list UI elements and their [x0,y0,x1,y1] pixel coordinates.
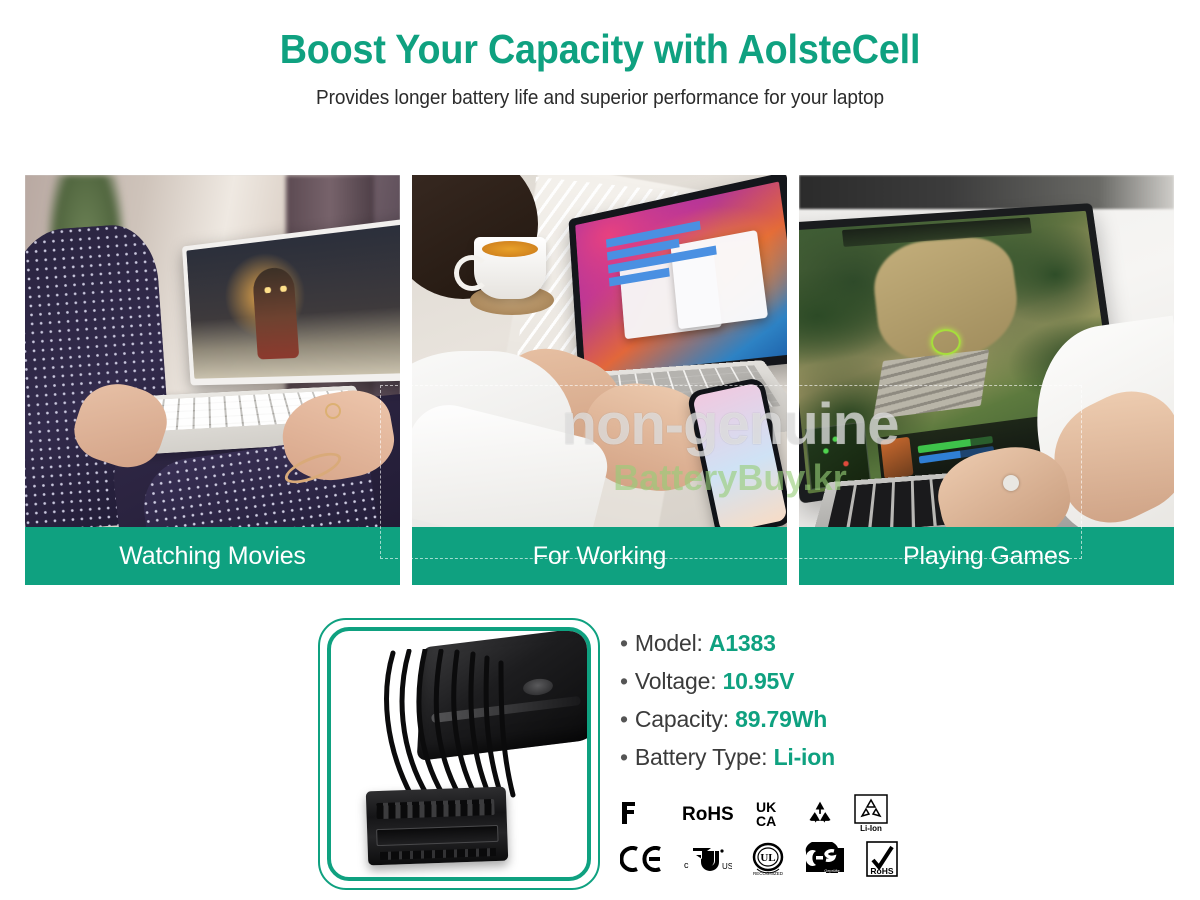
spec-value-voltage: 10.95V [723,668,795,694]
spec-value-battery-type: Li-ion [774,744,835,770]
spec-list: •Model: A1383 •Voltage: 10.95V •Capacity… [620,630,1040,782]
recycle-icon [806,799,834,827]
svg-text:c: c [684,860,689,870]
spec-label-model: Model: [635,630,703,656]
svg-text:RECOGNIZED: RECOGNIZED [753,871,784,876]
page-subtitle: Provides longer battery life and superio… [30,87,1170,110]
certification-badges: RoHS UK CA [620,790,920,882]
spec-row-capacity: •Capacity: 89.79Wh [620,706,1040,733]
battery-wires-graphic [375,649,535,799]
spec-row-model: •Model: A1383 [620,630,1040,657]
c-ul-us-icon: c US [684,847,732,871]
spec-value-model: A1383 [709,630,776,656]
spec-label-voltage: Voltage: [635,668,717,694]
panel-caption-watching-movies: Watching Movies [25,527,400,585]
svg-text:US: US [722,862,732,871]
product-image-frame [318,618,600,890]
photo-for-working [412,175,787,527]
svg-text:CA: CA [756,813,776,828]
page-title: Boost Your Capacity with AolsteCell [48,26,1152,73]
spec-value-capacity: 89.79Wh [735,706,827,732]
ul-circle-icon: UL RECOGNIZED [752,842,784,876]
fcc-icon [620,800,662,826]
ce-icon [620,846,664,872]
svg-text:RoHS: RoHS [682,804,734,824]
certification-row-2: c US UL RECOGNIZED [620,836,920,882]
svg-text:Li-Ion: Li-Ion [860,824,882,832]
bullet-icon: • [620,744,628,770]
bullet-icon: • [620,668,628,694]
use-case-panels: Watching Movies [25,175,1175,585]
panel-caption-playing-games: Playing Games [799,527,1174,585]
use-case-panel-playing-games[interactable]: Playing Games [799,175,1174,585]
ukca-icon: UK CA [756,798,786,828]
spec-row-voltage: •Voltage: 10.95V [620,668,1040,695]
battery-connector-graphic [366,787,508,866]
use-case-panel-watching-movies[interactable]: Watching Movies [25,175,400,585]
bullet-icon: • [620,630,628,656]
spec-row-battery-type: •Battery Type: Li-ion [620,744,1040,771]
svg-text:Geprüfte: Geprüfte [824,868,840,873]
photo-playing-games [799,175,1174,527]
product-image[interactable] [327,627,591,881]
product-detail-section: •Model: A1383 •Voltage: 10.95V •Capacity… [0,608,1200,900]
use-case-panel-for-working[interactable]: For Working [412,175,787,585]
gs-icon: Geprüfte [804,842,846,876]
li-ion-recycle-icon: Li-Ion [854,794,888,832]
certification-row-1: RoHS UK CA [620,790,920,836]
rohs-check-icon: RoHS [866,841,898,877]
svg-text:UL: UL [760,852,775,864]
spec-label-battery-type: Battery Type: [635,744,768,770]
page-header: Boost Your Capacity with AolsteCell Prov… [0,0,1200,110]
spec-label-capacity: Capacity: [635,706,729,732]
photo-watching-movies [25,175,400,527]
panel-caption-for-working: For Working [412,527,787,585]
rohs-text-icon: RoHS [682,802,736,824]
svg-text:RoHS: RoHS [870,866,893,876]
bullet-icon: • [620,706,628,732]
